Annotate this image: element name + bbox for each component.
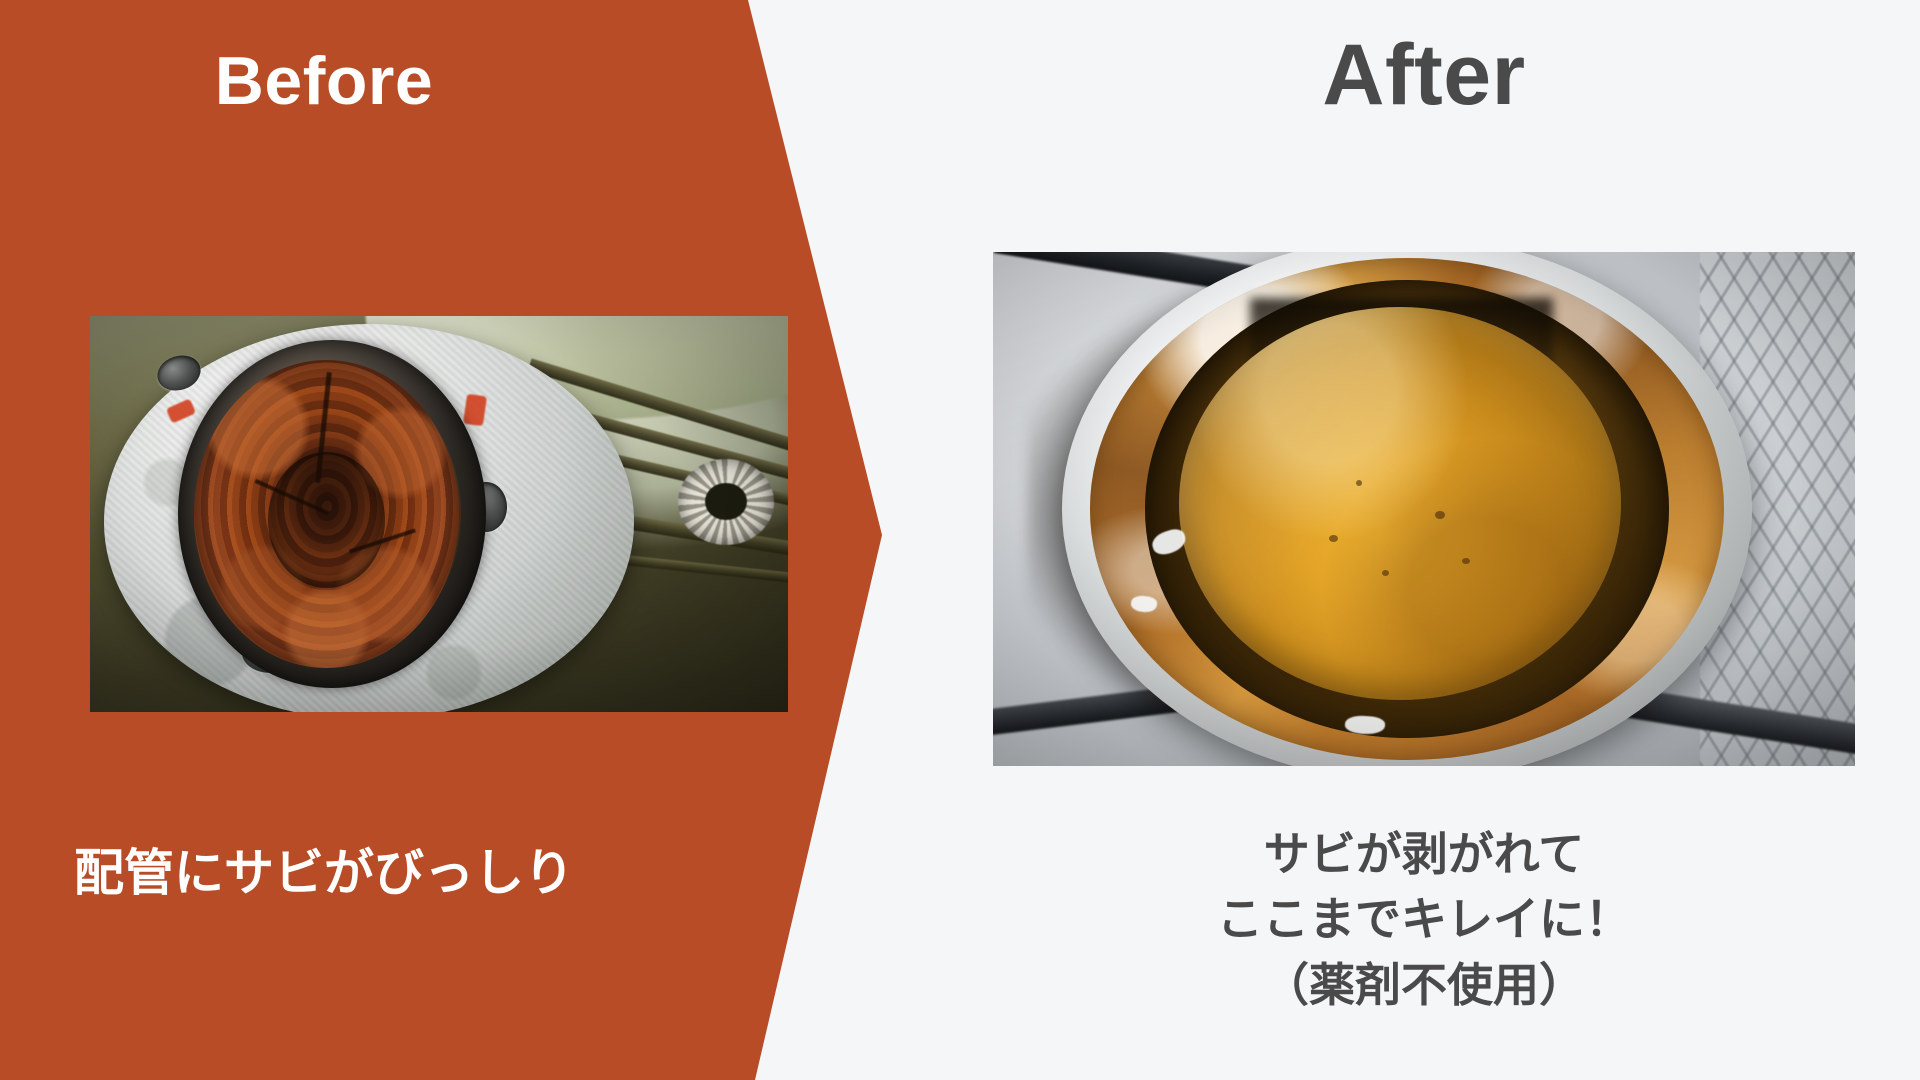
before-photo-flange-face (104, 324, 634, 712)
after-caption: サビが剥がれて ここまでキレイに！ （薬剤不使用） (993, 822, 1855, 1018)
before-photo-coiled-hose (678, 459, 774, 545)
after-photo-clean-bore-surface (1179, 307, 1620, 699)
before-photo-rust-buildup (194, 360, 459, 669)
before-caption: 配管にサビがびっしり (0, 838, 648, 909)
before-photo-bore-opening (268, 452, 385, 588)
before-after-comparison-slide: Before (0, 0, 1920, 1080)
after-title: After (993, 32, 1855, 118)
before-photo (90, 316, 788, 712)
after-photo-residue-speck (1356, 480, 1362, 486)
before-title: Before (0, 47, 648, 115)
after-photo-bore-sheen (1179, 307, 1620, 699)
after-photo-pipe-flange (1062, 252, 1752, 766)
before-photo-red-paint-mark (463, 394, 487, 426)
after-photo (993, 252, 1855, 766)
